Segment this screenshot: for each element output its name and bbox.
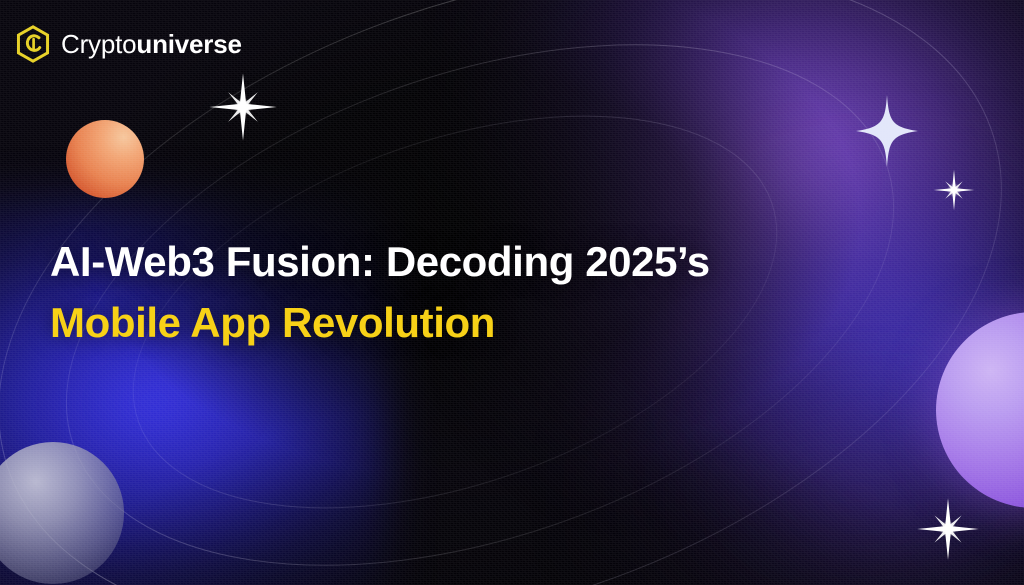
- brand-logo[interactable]: Cryptouniverse: [14, 25, 242, 63]
- cryptouniverse-hex-c-logo-icon: [14, 25, 52, 63]
- headline-block: AI-Web3 Fusion: Decoding 2025’s Mobile A…: [50, 231, 950, 353]
- brand-wordmark: Cryptouniverse: [61, 31, 242, 57]
- headline-line-2: Mobile App Revolution: [50, 292, 950, 353]
- headline-line-1: AI-Web3 Fusion: Decoding 2025’s: [50, 231, 950, 292]
- hero-banner: Cryptouniverse AI-Web3 Fusion: Decoding …: [0, 0, 1024, 585]
- brand-word-universe: universe: [136, 29, 241, 59]
- brand-word-crypto: Crypto: [61, 29, 136, 59]
